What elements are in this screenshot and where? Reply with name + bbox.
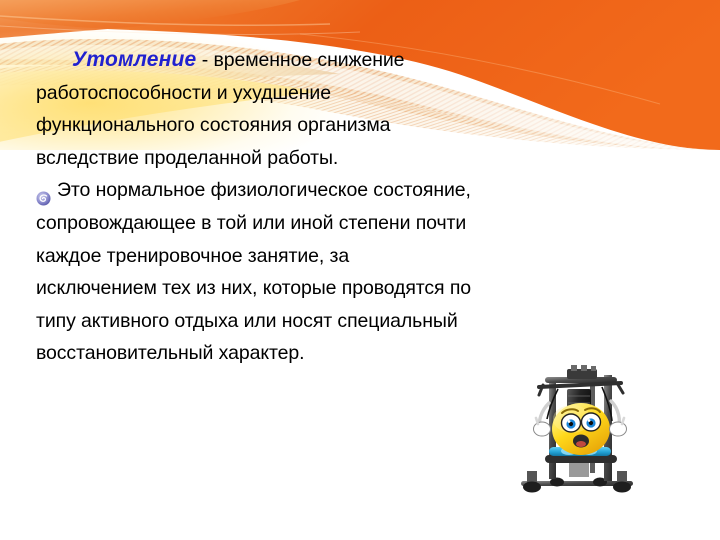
slide-canvas: Утомление - временное снижение работоспо… <box>0 0 720 540</box>
bullet-text: Это нормальное физиологическое состояние… <box>57 174 471 207</box>
tired-smiley-on-gym-machine-image <box>505 363 655 503</box>
definition-line: каждое тренировочное занятие, за <box>36 240 700 273</box>
bullet-list-item: Это нормальное физиологическое состояние… <box>36 174 700 207</box>
slide-text-block: Утомление - временное снижение работоспо… <box>36 44 700 370</box>
definition-line: вследствие проделанной работы. <box>36 142 700 175</box>
definition-line: Утомление - временное снижение <box>36 44 700 77</box>
definition-line: работоспособности и ухудшение <box>36 77 700 110</box>
definition-suffix: - временное снижение <box>196 49 404 71</box>
definition-line: функционального состояния организма <box>36 109 700 142</box>
definition-line: исключением тех из них, которые проводят… <box>36 272 700 305</box>
definition-line: типу активного отдыха или носят специаль… <box>36 305 700 338</box>
swirl-bullet-icon <box>36 184 51 199</box>
definition-line: сопровождающее в той или иной степени по… <box>36 207 700 240</box>
term-utomlenie: Утомление <box>72 48 196 71</box>
